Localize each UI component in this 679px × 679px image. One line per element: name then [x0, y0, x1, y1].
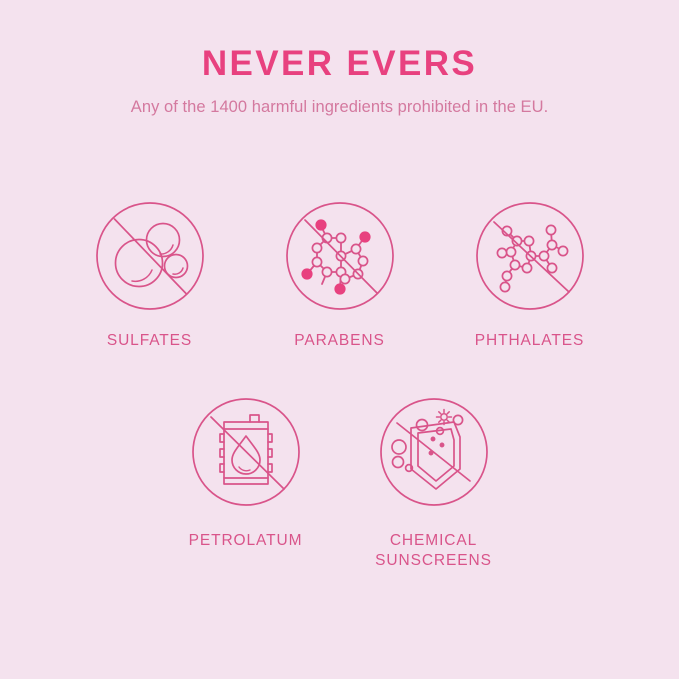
no-sulfates-bubbles-icon	[94, 200, 206, 312]
never-ever-label: PETROLATUM	[189, 531, 303, 551]
never-ever-label: PHTHALATES	[475, 331, 585, 351]
never-evers-graphic: NEVER EVERS Any of the 1400 harmful ingr…	[0, 0, 679, 679]
never-ever-item-chemical-sunscreens: CHEMICAL SUNSCREENS	[340, 396, 528, 571]
no-phthalates-molecule-icon	[474, 200, 586, 312]
no-chemical-sunscreens-shield-icon	[378, 396, 490, 508]
never-ever-row-1: SULFATES	[0, 200, 679, 351]
never-ever-item-petrolatum: PETROLATUM	[152, 396, 340, 571]
never-ever-label: PARABENS	[294, 331, 384, 351]
page-title: NEVER EVERS	[0, 0, 679, 81]
header: NEVER EVERS Any of the 1400 harmful ingr…	[0, 0, 679, 118]
no-parabens-molecule-icon	[284, 200, 396, 312]
never-ever-label: SULFATES	[107, 331, 192, 351]
never-ever-item-phthalates: PHTHALATES	[435, 200, 625, 351]
no-petrolatum-barrel-icon	[190, 396, 302, 508]
never-ever-item-parabens: PARABENS	[245, 200, 435, 351]
page-subtitle: Any of the 1400 harmful ingredients proh…	[0, 81, 679, 118]
never-ever-label: CHEMICAL SUNSCREENS	[375, 531, 492, 571]
never-ever-item-sulfates: SULFATES	[55, 200, 245, 351]
never-ever-row-2: PETROLATUM	[0, 396, 679, 571]
